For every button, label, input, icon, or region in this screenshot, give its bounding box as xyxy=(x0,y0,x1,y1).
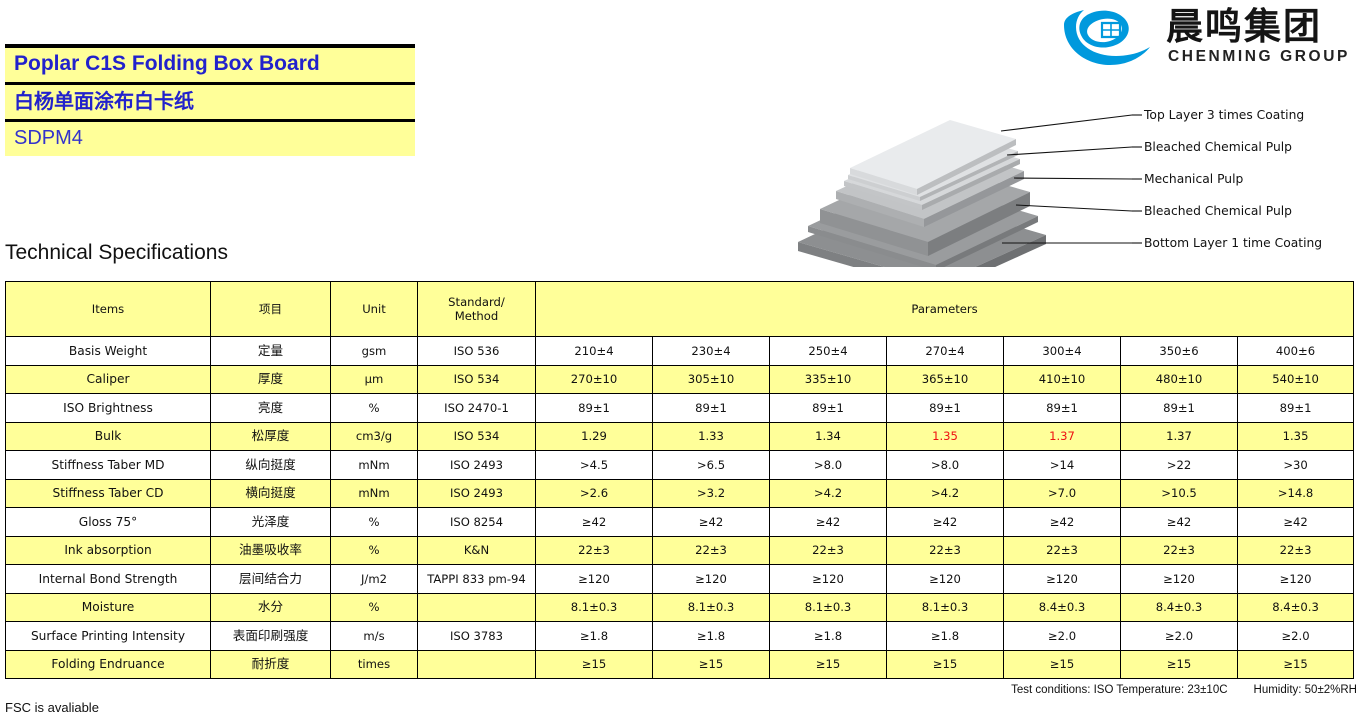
header-standard-line2: Method xyxy=(455,309,498,323)
cell-item-name-cn: 光泽度 xyxy=(211,508,331,537)
cell-item-name: Internal Bond Strength xyxy=(6,565,211,594)
cell-item-name-cn: 表面印刷强度 xyxy=(211,622,331,651)
cell-standard-method xyxy=(418,593,536,622)
cell-parameter-value: >4.2 xyxy=(887,479,1004,508)
product-title-cn-row: 白杨单面涂布白卡纸 xyxy=(5,85,415,119)
cell-item-name-cn: 松厚度 xyxy=(211,422,331,451)
cell-parameter-value: 335±10 xyxy=(770,365,887,394)
table-row: Surface Printing Intensity表面印刷强度m/sISO 3… xyxy=(6,622,1354,651)
cell-unit: gsm xyxy=(331,337,418,366)
cell-standard-method: ISO 534 xyxy=(418,422,536,451)
cell-parameter-value: 1.29 xyxy=(536,422,653,451)
cell-standard-method: ISO 536 xyxy=(418,337,536,366)
board-layer-diagram: Top Layer 3 times Coating Bleached Chemi… xyxy=(780,95,1365,267)
test-conditions-note: Test conditions: ISO Temperature: 23±10C… xyxy=(1011,684,1357,696)
cell-parameter-value: 22±3 xyxy=(1121,536,1238,565)
cell-parameter-value: >6.5 xyxy=(653,451,770,480)
cell-parameter-value: ≥120 xyxy=(770,565,887,594)
page-title: Technical Specifications xyxy=(5,241,228,265)
header-standard: Standard/ Method xyxy=(418,282,536,337)
cell-standard-method: ISO 8254 xyxy=(418,508,536,537)
table-row: Basis Weight定量gsmISO 536210±4230±4250±42… xyxy=(6,337,1354,366)
table-row: Bulk松厚度cm3/gISO 5341.291.331.341.351.371… xyxy=(6,422,1354,451)
cell-parameter-value: ≥42 xyxy=(1121,508,1238,537)
layer-label-top-coating: Top Layer 3 times Coating xyxy=(1144,108,1304,122)
cell-parameter-value: 89±1 xyxy=(887,394,1004,423)
cell-parameter-value: 365±10 xyxy=(887,365,1004,394)
cell-parameter-value: 400±6 xyxy=(1238,337,1354,366)
table-row: Caliper厚度μmISO 534270±10305±10335±10365±… xyxy=(6,365,1354,394)
cell-parameter-value: 8.1±0.3 xyxy=(770,593,887,622)
cell-parameter-value: ≥15 xyxy=(770,650,887,679)
cell-parameter-value: ≥120 xyxy=(887,565,1004,594)
cell-parameter-value: >30 xyxy=(1238,451,1354,480)
cell-parameter-value: 89±1 xyxy=(1004,394,1121,423)
cell-parameter-value: ≥15 xyxy=(536,650,653,679)
table-header-row: Items 项目 Unit Standard/ Method Parameter… xyxy=(6,282,1354,337)
cell-item-name-cn: 横向挺度 xyxy=(211,479,331,508)
cell-parameter-value: 8.1±0.3 xyxy=(887,593,1004,622)
cell-item-name-cn: 纵向挺度 xyxy=(211,451,331,480)
technical-specifications-table: Items 项目 Unit Standard/ Method Parameter… xyxy=(5,281,1354,679)
cell-parameter-value: ≥1.8 xyxy=(653,622,770,651)
cell-unit: J/m2 xyxy=(331,565,418,594)
cell-item-name: Gloss 75° xyxy=(6,508,211,537)
cell-parameter-value: 1.33 xyxy=(653,422,770,451)
cell-parameter-value: >8.0 xyxy=(770,451,887,480)
cell-item-name: ISO Brightness xyxy=(6,394,211,423)
cell-parameter-value: >22 xyxy=(1121,451,1238,480)
table-row: ISO Brightness亮度%ISO 2470-189±189±189±18… xyxy=(6,394,1354,423)
table-row: Stiffness Taber MD纵向挺度mNmISO 2493>4.5>6.… xyxy=(6,451,1354,480)
cell-parameter-value: 22±3 xyxy=(536,536,653,565)
cell-parameter-value: 89±1 xyxy=(1121,394,1238,423)
cell-parameter-value: 270±4 xyxy=(887,337,1004,366)
layer-label-bleached-pulp-bottom: Bleached Chemical Pulp xyxy=(1144,204,1292,218)
product-title-cn: 白杨单面涂布白卡纸 xyxy=(14,88,406,114)
layer-label-bottom-coating: Bottom Layer 1 time Coating xyxy=(1144,236,1322,250)
cell-parameter-value: ≥1.8 xyxy=(536,622,653,651)
cell-parameter-value: 270±10 xyxy=(536,365,653,394)
cell-parameter-value: ≥15 xyxy=(653,650,770,679)
cell-parameter-value: >3.2 xyxy=(653,479,770,508)
cell-parameter-value: >14 xyxy=(1004,451,1121,480)
table-row: Internal Bond Strength层间结合力J/m2TAPPI 833… xyxy=(6,565,1354,594)
cell-parameter-value: 89±1 xyxy=(536,394,653,423)
cell-parameter-value: 8.4±0.3 xyxy=(1238,593,1354,622)
cell-parameter-value: ≥42 xyxy=(1238,508,1354,537)
cell-parameter-value: 350±6 xyxy=(1121,337,1238,366)
cell-standard-method: K&N xyxy=(418,536,536,565)
cell-parameter-value: 480±10 xyxy=(1121,365,1238,394)
cell-item-name: Basis Weight xyxy=(6,337,211,366)
cell-parameter-value: ≥1.8 xyxy=(770,622,887,651)
cell-parameter-value: ≥42 xyxy=(887,508,1004,537)
cell-item-name-cn: 油墨吸收率 xyxy=(211,536,331,565)
cell-parameter-value: 305±10 xyxy=(653,365,770,394)
cell-unit: μm xyxy=(331,365,418,394)
cell-parameter-value: ≥15 xyxy=(1121,650,1238,679)
cell-parameter-value: 22±3 xyxy=(653,536,770,565)
table-row: Moisture水分%8.1±0.38.1±0.38.1±0.38.1±0.38… xyxy=(6,593,1354,622)
cell-unit: cm3/g xyxy=(331,422,418,451)
cell-parameter-value: 1.37 xyxy=(1004,422,1121,451)
cell-parameter-value: 22±3 xyxy=(770,536,887,565)
cell-unit: times xyxy=(331,650,418,679)
cell-parameter-value: ≥120 xyxy=(653,565,770,594)
cell-parameter-value: ≥15 xyxy=(1238,650,1354,679)
cell-standard-method xyxy=(418,650,536,679)
cell-item-name-cn: 水分 xyxy=(211,593,331,622)
cell-unit: % xyxy=(331,536,418,565)
table-row: Stiffness Taber CD横向挺度mNmISO 2493>2.6>3.… xyxy=(6,479,1354,508)
cell-item-name: Bulk xyxy=(6,422,211,451)
cell-parameter-value: >2.6 xyxy=(536,479,653,508)
cell-parameter-value: ≥120 xyxy=(1004,565,1121,594)
cell-parameter-value: ≥120 xyxy=(1121,565,1238,594)
cell-unit: mNm xyxy=(331,451,418,480)
product-title-block: Poplar C1S Folding Box Board 白杨单面涂布白卡纸 S… xyxy=(5,44,415,156)
cell-parameter-value: 1.37 xyxy=(1121,422,1238,451)
cell-standard-method: ISO 2493 xyxy=(418,451,536,480)
cell-item-name-cn: 层间结合力 xyxy=(211,565,331,594)
cell-unit: % xyxy=(331,508,418,537)
cell-parameter-value: 8.1±0.3 xyxy=(536,593,653,622)
cell-standard-method: ISO 2493 xyxy=(418,479,536,508)
table-body: Basis Weight定量gsmISO 536210±4230±4250±42… xyxy=(6,337,1354,679)
logo-english-text: CHENMING GROUP xyxy=(1168,48,1350,66)
cell-parameter-value: 300±4 xyxy=(1004,337,1121,366)
cell-parameter-value: 1.34 xyxy=(770,422,887,451)
layer-label-mechanical-pulp: Mechanical Pulp xyxy=(1144,172,1243,186)
cell-standard-method: ISO 3783 xyxy=(418,622,536,651)
header-unit: Unit xyxy=(331,282,418,337)
cell-item-name-cn: 亮度 xyxy=(211,394,331,423)
cell-standard-method: TAPPI 833 pm-94 xyxy=(418,565,536,594)
cell-item-name: Caliper xyxy=(6,365,211,394)
cell-unit: m/s xyxy=(331,622,418,651)
cell-unit: mNm xyxy=(331,479,418,508)
cell-parameter-value: >4.2 xyxy=(770,479,887,508)
cell-parameter-value: ≥42 xyxy=(770,508,887,537)
logo-chinese-text: 晨鸣集团 xyxy=(1166,6,1322,48)
product-title-en-row: Poplar C1S Folding Box Board xyxy=(5,48,415,82)
cell-parameter-value: >8.0 xyxy=(887,451,1004,480)
cell-parameter-value: ≥42 xyxy=(536,508,653,537)
datasheet-page: 晨鸣集团 CHENMING GROUP Poplar C1S Folding B… xyxy=(0,0,1365,725)
cell-parameter-value: ≥2.0 xyxy=(1121,622,1238,651)
cell-parameter-value: 540±10 xyxy=(1238,365,1354,394)
cell-parameter-value: 1.35 xyxy=(887,422,1004,451)
cell-item-name: Moisture xyxy=(6,593,211,622)
cell-parameter-value: 8.4±0.3 xyxy=(1004,593,1121,622)
cell-parameter-value: >7.0 xyxy=(1004,479,1121,508)
cell-parameter-value: ≥42 xyxy=(653,508,770,537)
cell-parameter-value: 210±4 xyxy=(536,337,653,366)
table-row: Gloss 75°光泽度%ISO 8254≥42≥42≥42≥42≥42≥42≥… xyxy=(6,508,1354,537)
cell-item-name: Surface Printing Intensity xyxy=(6,622,211,651)
cell-parameter-value: 1.35 xyxy=(1238,422,1354,451)
cell-parameter-value: ≥42 xyxy=(1004,508,1121,537)
header-items: Items xyxy=(6,282,211,337)
cell-parameter-value: 8.4±0.3 xyxy=(1121,593,1238,622)
chenming-logo: 晨鸣集团 CHENMING GROUP xyxy=(1058,4,1353,72)
cell-item-name: Folding Endruance xyxy=(6,650,211,679)
cell-parameter-value: 250±4 xyxy=(770,337,887,366)
cell-parameter-value: 89±1 xyxy=(1238,394,1354,423)
cell-parameter-value: 22±3 xyxy=(1238,536,1354,565)
cell-item-name-cn: 厚度 xyxy=(211,365,331,394)
cell-parameter-value: ≥15 xyxy=(887,650,1004,679)
cell-parameter-value: 89±1 xyxy=(770,394,887,423)
cell-parameter-value: >14.8 xyxy=(1238,479,1354,508)
cell-parameter-value: >4.5 xyxy=(536,451,653,480)
cell-item-name-cn: 耐折度 xyxy=(211,650,331,679)
cell-parameter-value: 410±10 xyxy=(1004,365,1121,394)
cell-standard-method: ISO 534 xyxy=(418,365,536,394)
header-items-cn: 项目 xyxy=(211,282,331,337)
cell-parameter-value: ≥2.0 xyxy=(1238,622,1354,651)
cell-parameter-value: ≥2.0 xyxy=(1004,622,1121,651)
cell-parameter-value: ≥120 xyxy=(1238,565,1354,594)
cell-parameter-value: 22±3 xyxy=(887,536,1004,565)
test-conditions-text: Test conditions: ISO Temperature: 23±10C xyxy=(1011,684,1227,696)
cell-item-name-cn: 定量 xyxy=(211,337,331,366)
cell-parameter-value: ≥15 xyxy=(1004,650,1121,679)
product-title-en: Poplar C1S Folding Box Board xyxy=(14,51,406,77)
cell-unit: % xyxy=(331,394,418,423)
cell-parameter-value: 89±1 xyxy=(653,394,770,423)
layer-label-bleached-pulp-top: Bleached Chemical Pulp xyxy=(1144,140,1292,154)
table-row: Ink absorption油墨吸收率%K&N22±322±322±322±32… xyxy=(6,536,1354,565)
cell-standard-method: ISO 2470-1 xyxy=(418,394,536,423)
header-parameters: Parameters xyxy=(536,282,1354,337)
cell-parameter-value: 8.1±0.3 xyxy=(653,593,770,622)
product-code: SDPM4 xyxy=(14,125,406,151)
cell-item-name: Stiffness Taber CD xyxy=(6,479,211,508)
header-standard-line1: Standard/ xyxy=(448,295,505,309)
table-row: Folding Endruance耐折度times≥15≥15≥15≥15≥15… xyxy=(6,650,1354,679)
chenming-logo-mark xyxy=(1058,7,1158,69)
cell-parameter-value: >10.5 xyxy=(1121,479,1238,508)
fsc-note: FSC is avaliable xyxy=(5,700,99,715)
cell-item-name: Stiffness Taber MD xyxy=(6,451,211,480)
cell-parameter-value: ≥1.8 xyxy=(887,622,1004,651)
humidity-text: Humidity: 50±2%RH xyxy=(1254,684,1357,696)
cell-unit: % xyxy=(331,593,418,622)
product-code-row: SDPM4 xyxy=(5,122,415,156)
cell-item-name: Ink absorption xyxy=(6,536,211,565)
cell-parameter-value: 230±4 xyxy=(653,337,770,366)
cell-parameter-value: 22±3 xyxy=(1004,536,1121,565)
cell-parameter-value: ≥120 xyxy=(536,565,653,594)
